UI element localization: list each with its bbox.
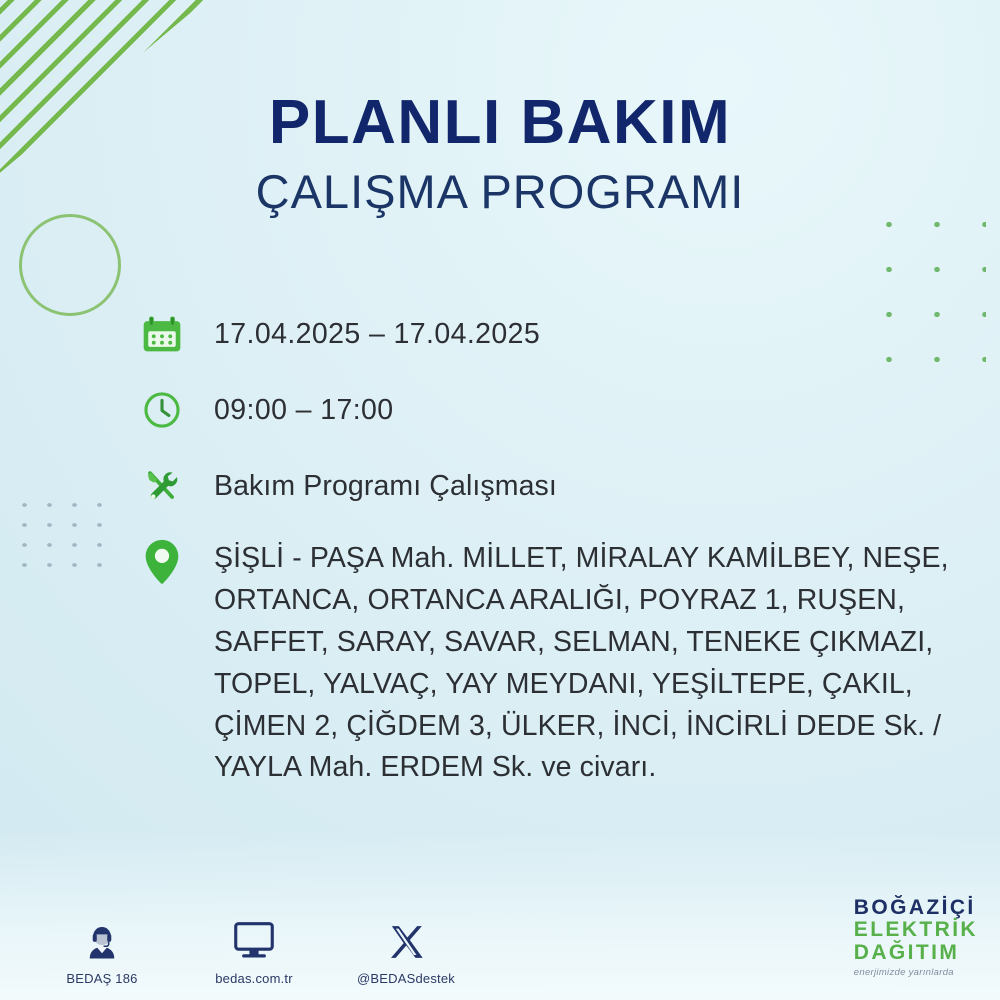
- location-line: TOPEL, YALVAÇ, YAY MEYDANI, YEŞİLTEPE, Ç…: [214, 664, 949, 706]
- tools-icon: [136, 460, 188, 512]
- info-list: 17.04.2025 – 17.04.2025 09:00 – 17:00: [136, 308, 986, 789]
- calendar-icon: [136, 308, 188, 360]
- contact-label: bedas.com.tr: [200, 971, 308, 986]
- location-line: SAFFET, SARAY, SAVAR, SELMAN, TENEKE ÇIK…: [214, 622, 949, 664]
- location-line: YAYLA Mah. ERDEM Sk. ve civarı.: [214, 747, 949, 789]
- location-line: ÇİMEN 2, ÇİĞDEM 3, ÜLKER, İNCİ, İNCİRLİ …: [214, 706, 949, 748]
- poster-footer: BEDAŞ 186 bedas.com.tr: [0, 870, 1000, 1000]
- contact-list: BEDAŞ 186 bedas.com.tr: [48, 916, 460, 986]
- time-range-text: 09:00 – 17:00: [214, 384, 394, 430]
- clock-icon: [136, 384, 188, 436]
- page-title: PLANLI BAKIM: [0, 92, 1000, 154]
- info-row-location: ŞİŞLİ - PAŞA Mah. MİLLET, MİRALAY KAMİLB…: [136, 536, 986, 789]
- call-center-agent-icon: [48, 916, 156, 962]
- desktop-monitor-icon: [200, 916, 308, 962]
- poster-canvas: PLANLI BAKIM ÇALIŞMA PROGRAMI: [0, 0, 1000, 1000]
- brand-line-3: DAĞITIM: [854, 942, 978, 964]
- bedas-logo: BOĞAZİÇİ ELEKTRİK DAĞITIM enerjimizde ya…: [854, 897, 978, 978]
- contact-label: BEDAŞ 186: [48, 971, 156, 986]
- work-type-text: Bakım Programı Çalışması: [214, 460, 557, 506]
- location-line: ŞİŞLİ - PAŞA Mah. MİLLET, MİRALAY KAMİLB…: [214, 538, 949, 580]
- info-row-time: 09:00 – 17:00: [136, 384, 986, 436]
- contact-x-social[interactable]: @BEDASdestek: [352, 916, 460, 986]
- date-range-text: 17.04.2025 – 17.04.2025: [214, 308, 540, 354]
- info-row-date: 17.04.2025 – 17.04.2025: [136, 308, 986, 360]
- x-twitter-icon: [352, 916, 460, 962]
- poster-header: PLANLI BAKIM ÇALIŞMA PROGRAMI: [0, 92, 1000, 215]
- contact-website[interactable]: bedas.com.tr: [200, 916, 308, 986]
- brand-line-1: BOĞAZİÇİ: [854, 897, 978, 919]
- info-row-work-type: Bakım Programı Çalışması: [136, 460, 986, 512]
- contact-label: @BEDASdestek: [352, 971, 460, 986]
- location-line: ORTANCA, ORTANCA ARALIĞI, POYRAZ 1, RUŞE…: [214, 580, 949, 622]
- dot-grid-decoration-left: [10, 492, 102, 576]
- contact-phone[interactable]: BEDAŞ 186: [48, 916, 156, 986]
- page-subtitle: ÇALIŞMA PROGRAMI: [0, 168, 1000, 215]
- location-text: ŞİŞLİ - PAŞA Mah. MİLLET, MİRALAY KAMİLB…: [214, 536, 949, 789]
- brand-line-2: ELEKTRİK: [854, 919, 978, 941]
- circle-outline-decoration: [19, 214, 121, 316]
- brand-tagline: enerjimizde yarınlarda: [854, 968, 978, 978]
- map-pin-icon: [136, 536, 188, 588]
